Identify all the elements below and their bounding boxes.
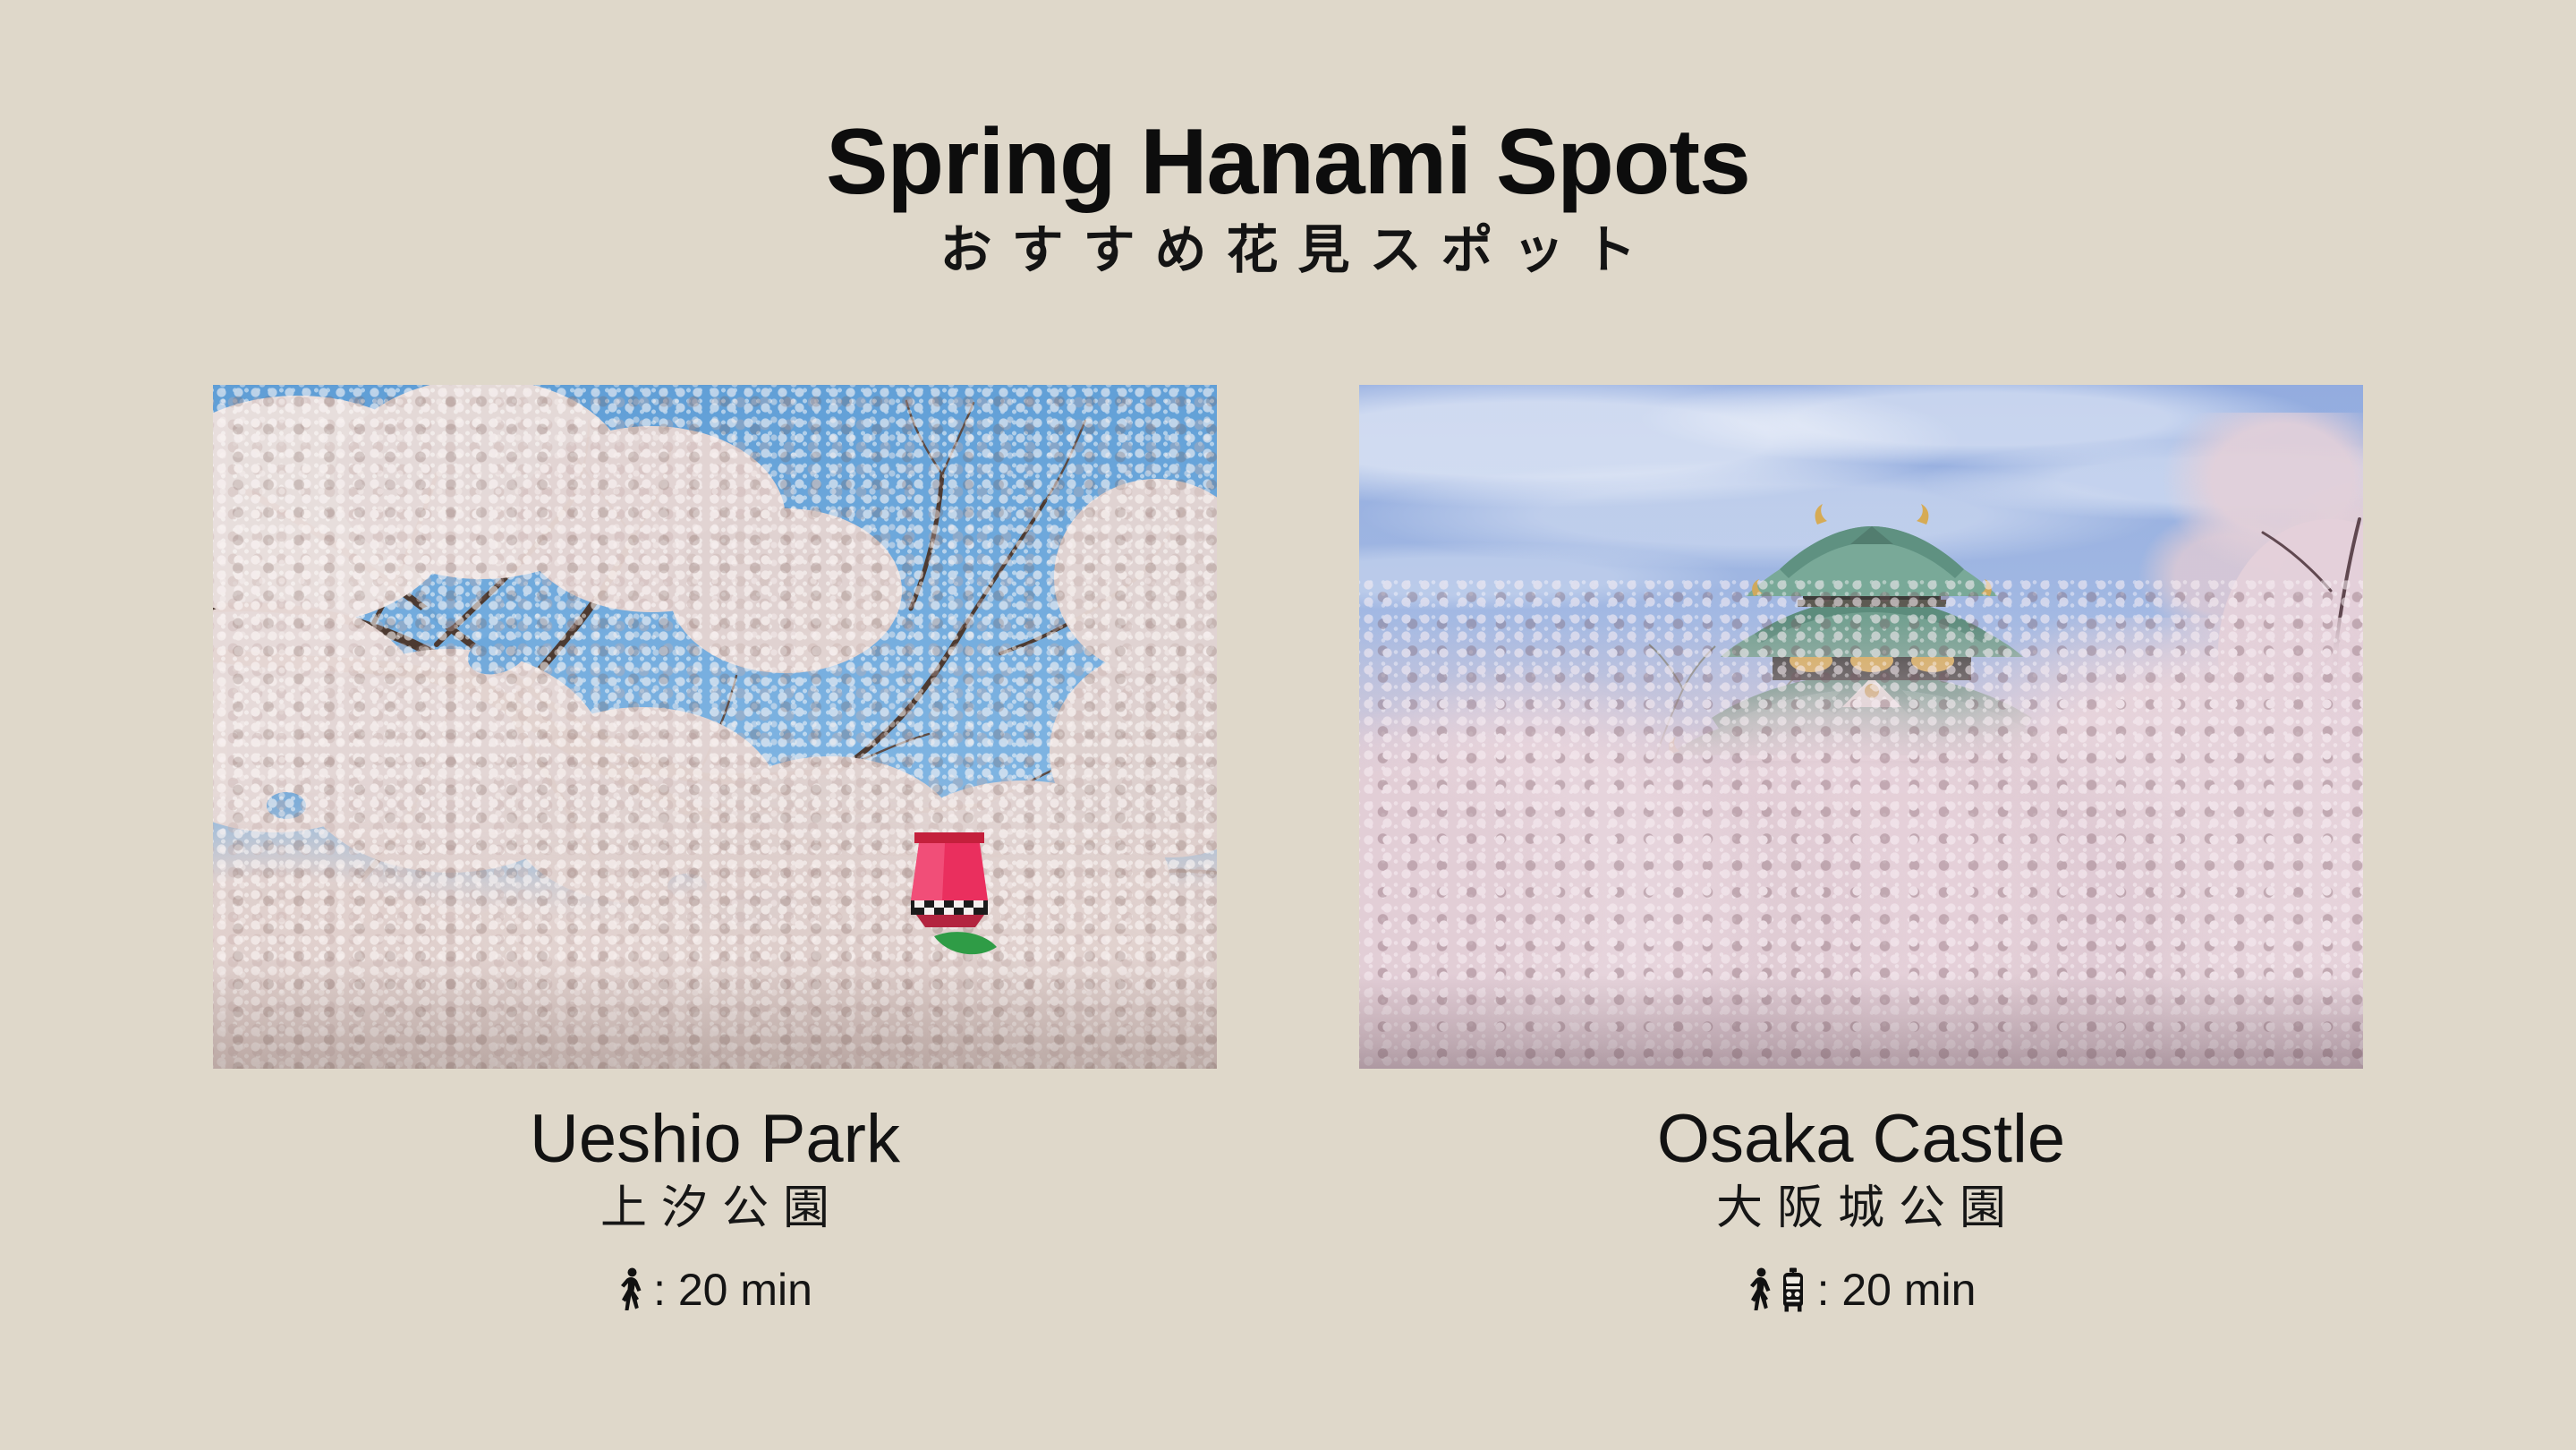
spot-card-list: Ueshio Park 上汐公園 : 20 min	[0, 385, 2576, 1312]
page-subtitle-japanese: おすすめ花見スポット	[0, 209, 2576, 278]
spot-name-en: Ueshio Park	[530, 1069, 900, 1177]
travel-time-row: : 20 min	[1747, 1237, 1977, 1312]
train-icon	[1778, 1267, 1808, 1312]
spot-card-ueshio-park[interactable]: Ueshio Park 上汐公園 : 20 min	[213, 385, 1217, 1312]
travel-icon-group	[1747, 1267, 1808, 1312]
spot-card-osaka-castle[interactable]: Osaka Castle 大阪城公園	[1359, 385, 2363, 1312]
travel-time-text: : 20 min	[653, 1267, 812, 1312]
page-title: Spring Hanami Spots	[0, 0, 2576, 209]
walking-person-icon	[617, 1267, 644, 1312]
spot-name-en: Osaka Castle	[1657, 1069, 2065, 1177]
travel-time-row: : 20 min	[617, 1237, 812, 1312]
photo-ueshio-park	[213, 385, 1217, 1069]
photo-osaka-castle	[1359, 385, 2363, 1069]
header: Spring Hanami Spots おすすめ花見スポット	[0, 0, 2576, 278]
travel-icon-group	[617, 1267, 644, 1312]
walking-person-icon	[1747, 1267, 1773, 1312]
travel-time-text: : 20 min	[1817, 1267, 1977, 1312]
photo-vignette	[213, 960, 1217, 1069]
spot-name-jp: 上汐公園	[586, 1177, 844, 1236]
spot-name-jp: 大阪城公園	[1702, 1177, 2020, 1236]
photo-vignette	[1359, 973, 2363, 1069]
